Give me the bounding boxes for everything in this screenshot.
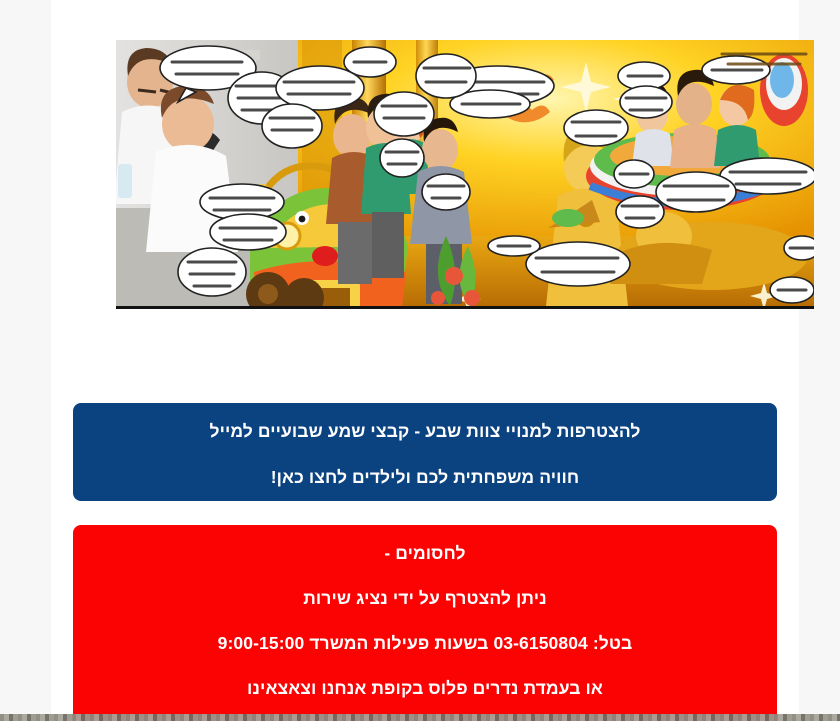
subscribe-cta-panel[interactable]: להצטרפות למנויי צוות שבע - קבצי שמע שבוע… <box>73 403 777 501</box>
page-content-column: להצטרפות למנויי צוות שבע - קבצי שמע שבוע… <box>51 0 799 721</box>
subscribe-cta-line-2: חוויה משפחתית לכם ולילדים לחצו כאן! <box>87 467 763 489</box>
blocked-cta-line-4: או בעמדת נדרים פלוס בקופת אנחנו וצאצאינו <box>87 678 763 700</box>
blocked-cta-line-2: ניתן להצטרף על ידי נציג שירות <box>87 588 763 610</box>
blocked-cta-heading: לחסומים - <box>87 543 763 565</box>
subscribe-cta-line-1: להצטרפות למנויי צוות שבע - קבצי שמע שבוע… <box>87 421 763 443</box>
next-image-bleed-strip <box>0 714 840 721</box>
blocked-cta-phone-line: בטל: 03-6150804 בשעות פעילות המשרד 9:00-… <box>87 633 763 655</box>
blocked-users-cta-panel[interactable]: לחסומים - ניתן להצטרף על ידי נציג שירות … <box>73 525 777 721</box>
cartoon-illustration <box>116 40 814 306</box>
hero-illustration-figure[interactable] <box>116 40 814 309</box>
